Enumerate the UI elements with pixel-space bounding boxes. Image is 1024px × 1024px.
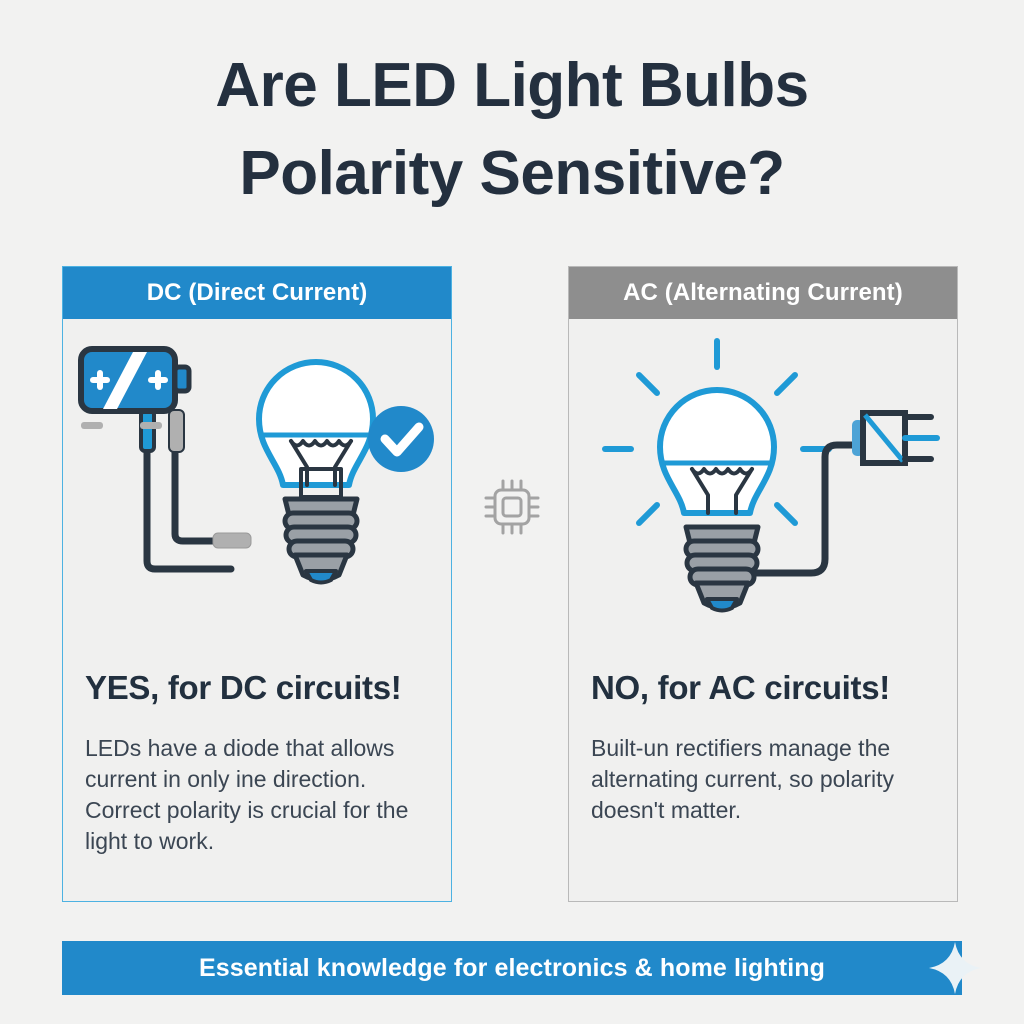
card-ac-body: NO, for AC circuits! Built-un rectifiers…	[569, 669, 957, 826]
page-title: Are LED Light Bulbs Polarity Sensitive?	[0, 42, 1024, 218]
page-title-line-1: Are LED Light Bulbs	[0, 42, 1024, 130]
bulb-base-icon	[285, 499, 357, 583]
battery-terminal-marks	[81, 422, 162, 429]
card-ac-figure	[569, 319, 957, 669]
card-dc-body: YES, for DC circuits! LEDs have a diode …	[63, 669, 451, 857]
card-dc-answer: YES, for DC circuits!	[85, 669, 429, 707]
card-ac-answer: NO, for AC circuits!	[591, 669, 935, 707]
card-dc: DC (Direct Current)	[62, 266, 452, 902]
card-dc-header: DC (Direct Current)	[63, 267, 451, 319]
bulb-base-icon	[686, 527, 758, 611]
check-circle-icon	[368, 406, 434, 472]
card-dc-figure	[63, 319, 451, 669]
wire-icon	[147, 437, 231, 569]
card-ac-header: AC (Alternating Current)	[569, 267, 957, 319]
footer-banner: Essential knowledge for electronics & ho…	[62, 941, 962, 995]
card-dc-text: LEDs have a diode that allows current in…	[85, 733, 429, 857]
wire-connector-icon	[213, 533, 251, 548]
ac-circuit-illustration	[569, 319, 957, 669]
power-plug-icon	[853, 413, 937, 463]
light-bulb-icon	[259, 362, 373, 583]
battery-icon	[81, 349, 189, 451]
light-bulb-icon	[660, 390, 774, 611]
microchip-icon	[481, 476, 543, 538]
card-ac-text: Built-un rectifiers manage the alternati…	[591, 733, 935, 826]
page-title-line-2: Polarity Sensitive?	[0, 130, 1024, 218]
card-ac: AC (Alternating Current)	[568, 266, 958, 902]
dc-circuit-illustration	[63, 319, 451, 669]
